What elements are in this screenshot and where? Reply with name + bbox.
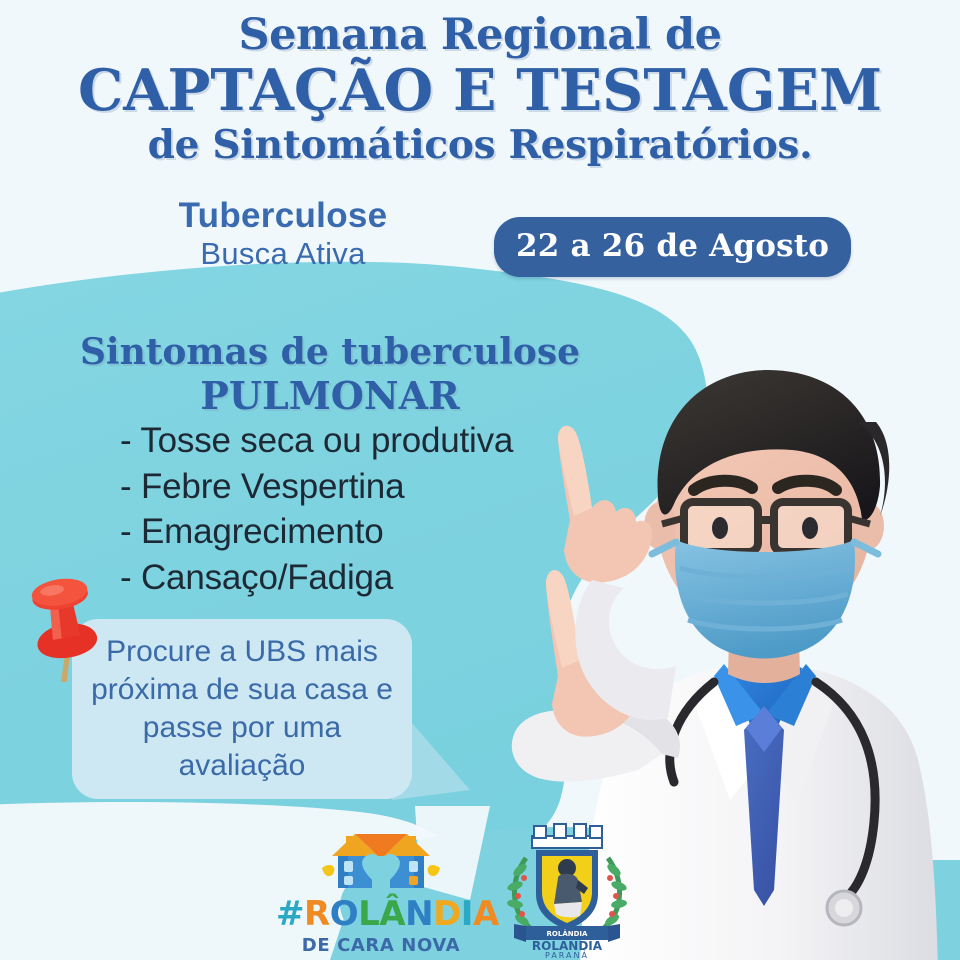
rolandia-tagline: DE CARA NOVA — [276, 935, 486, 956]
poster-canvas: Semana Regional de CAPTAÇÃO E TESTAGEM d… — [0, 0, 960, 960]
list-item: - Tosse seca ou produtiva — [120, 418, 513, 464]
headline-line-1: Semana Regional de — [0, 14, 960, 57]
headline-line-3: de Sintomáticos Respiratórios. — [0, 126, 960, 165]
callout-line-2: próxima de sua casa e — [74, 671, 410, 709]
callout-line-1: Procure a UBS mais — [74, 633, 410, 671]
subtitle-tuberculose: Tuberculose — [118, 196, 448, 235]
rolandia-wordmark: #ROLÂNDIA — [276, 897, 486, 931]
list-item: - Febre Vespertina — [120, 464, 513, 510]
symptoms-title-line-2: PULMONAR — [60, 376, 600, 416]
rolandia-brand-logo: #ROLÂNDIA DE CARA NOVA — [276, 828, 486, 954]
list-item: - Emagrecimento — [120, 509, 513, 555]
date-badge: 22 a 26 de Agosto — [494, 217, 851, 277]
pushpin-icon — [22, 572, 106, 682]
svg-text:ROLÂNDIA: ROLÂNDIA — [547, 929, 588, 938]
headline-line-2: CAPTAÇÃO E TESTAGEM — [0, 62, 960, 119]
callout-line-4: avaliação — [74, 747, 410, 785]
house-heart-icon — [276, 828, 486, 892]
symptoms-title: Sintomas de tuberculose PULMONAR — [60, 334, 600, 416]
symptoms-list: - Tosse seca ou produtiva - Febre Vesper… — [120, 418, 513, 600]
coat-of-arms-icon: ROLÂNDIA ROLÂNDIA PARANÁ — [496, 822, 638, 958]
coat-state-label: PARANÁ — [545, 949, 589, 958]
callout-text: Procure a UBS mais próxima de sua casa e… — [74, 633, 410, 785]
callout-line-3: passe por uma — [74, 709, 410, 747]
subtitle-busca-ativa: Busca Ativa — [118, 237, 448, 272]
subtitle-block: Tuberculose Busca Ativa — [118, 196, 448, 272]
page-title: Semana Regional de CAPTAÇÃO E TESTAGEM d… — [0, 14, 960, 165]
symptoms-title-line-1: Sintomas de tuberculose — [60, 334, 600, 372]
list-item: - Cansaço/Fadiga — [120, 555, 513, 601]
